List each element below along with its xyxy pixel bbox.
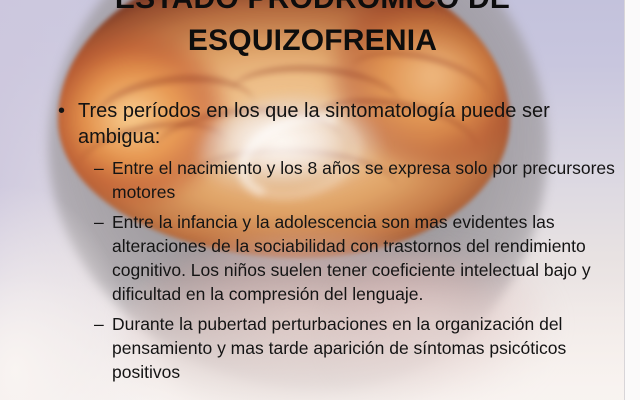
bullet-level-2: – Entre el nacimiento y los 8 años se ex… <box>56 156 618 204</box>
presentation-slide: ESTADO PRODRÓMICO DE ESQUIZOFRENIA • Tre… <box>0 0 640 400</box>
bullet-level-2: – Durante la pubertad perturbaciones en … <box>56 312 618 384</box>
title-line-2: ESQUIZOFRENIA <box>0 20 625 62</box>
slide-right-border <box>624 0 625 400</box>
slide-body: • Tres períodos en los que la sintomatol… <box>56 98 618 390</box>
bullet-level-1-text: Tres períodos en los que la sintomatolog… <box>78 100 550 148</box>
sub-bullet-list: – Entre el nacimiento y los 8 años se ex… <box>56 156 618 384</box>
bullet-level-2-text: Entre el nacimiento y los 8 años se expr… <box>112 156 618 204</box>
slide-canvas: ESTADO PRODRÓMICO DE ESQUIZOFRENIA • Tre… <box>0 0 625 400</box>
bullet-level-1: • Tres períodos en los que la sintomatol… <box>56 98 618 150</box>
page-title: ESTADO PRODRÓMICO DE ESQUIZOFRENIA <box>0 0 625 62</box>
bullet-marker-icon: • <box>58 98 65 124</box>
bullet-level-2-text: Entre la infancia y la adolescencia son … <box>112 210 618 306</box>
slide-outer-margin <box>624 0 640 400</box>
bullet-level-2: – Entre la infancia y la adolescencia so… <box>56 210 618 306</box>
bullet-level-2-text: Durante la pubertad perturbaciones en la… <box>112 312 618 384</box>
dash-marker-icon: – <box>94 210 104 234</box>
slide-text-layer: ESTADO PRODRÓMICO DE ESQUIZOFRENIA • Tre… <box>0 0 625 400</box>
dash-marker-icon: – <box>94 312 104 336</box>
dash-marker-icon: – <box>94 156 104 180</box>
title-line-1: ESTADO PRODRÓMICO DE <box>0 0 625 20</box>
